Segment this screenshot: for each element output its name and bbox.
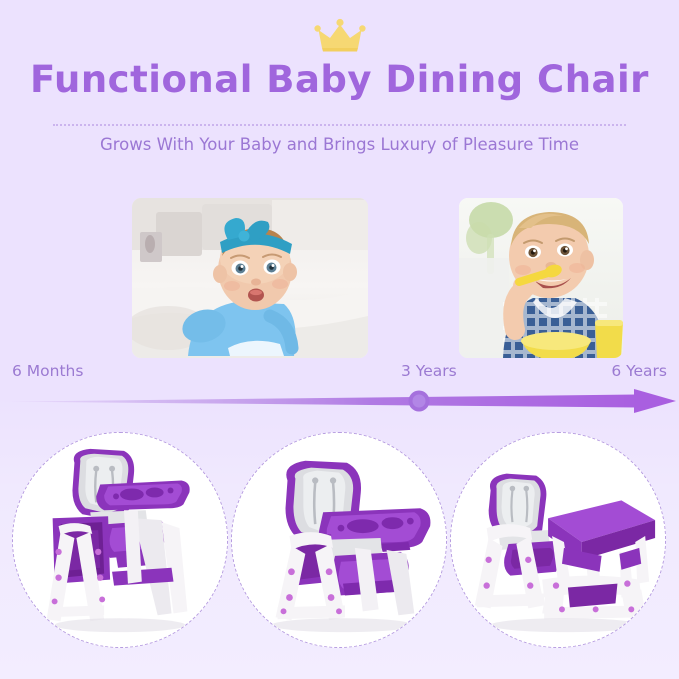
crown-icon-wrapper [0,16,679,56]
header-section: Functional Baby Dining Chair Grows With … [0,0,679,175]
crown-icon [312,16,368,56]
product-low-chair-image [232,433,446,647]
product-low-chair[interactable] [231,432,447,648]
page-subtitle: Grows With Your Baby and Brings Luxury o… [0,135,679,154]
photo-baby-on-bed [132,198,368,358]
timeline-label-start: 6 Months [12,362,83,380]
header-divider [53,124,626,126]
product-configurations-row [0,428,679,679]
page-title: Functional Baby Dining Chair [0,58,679,101]
timeline-arrow-icon [0,388,679,414]
photo-toddler-eating [459,198,623,358]
product-high-chair[interactable] [12,432,228,648]
product-high-chair-image [13,433,227,647]
product-table-and-chair[interactable] [450,432,666,648]
timeline-label-mid: 3 Years [401,362,457,380]
photo-row [0,198,679,360]
age-timeline: 6 Months 3 Years 6 Years [0,362,679,418]
timeline-label-end: 6 Years [611,362,667,380]
product-infographic-poster: Functional Baby Dining Chair Grows With … [0,0,679,679]
photo-baby-on-bed-image [132,198,368,358]
product-table-and-chair-image [451,433,665,647]
photo-toddler-eating-image [459,198,623,358]
